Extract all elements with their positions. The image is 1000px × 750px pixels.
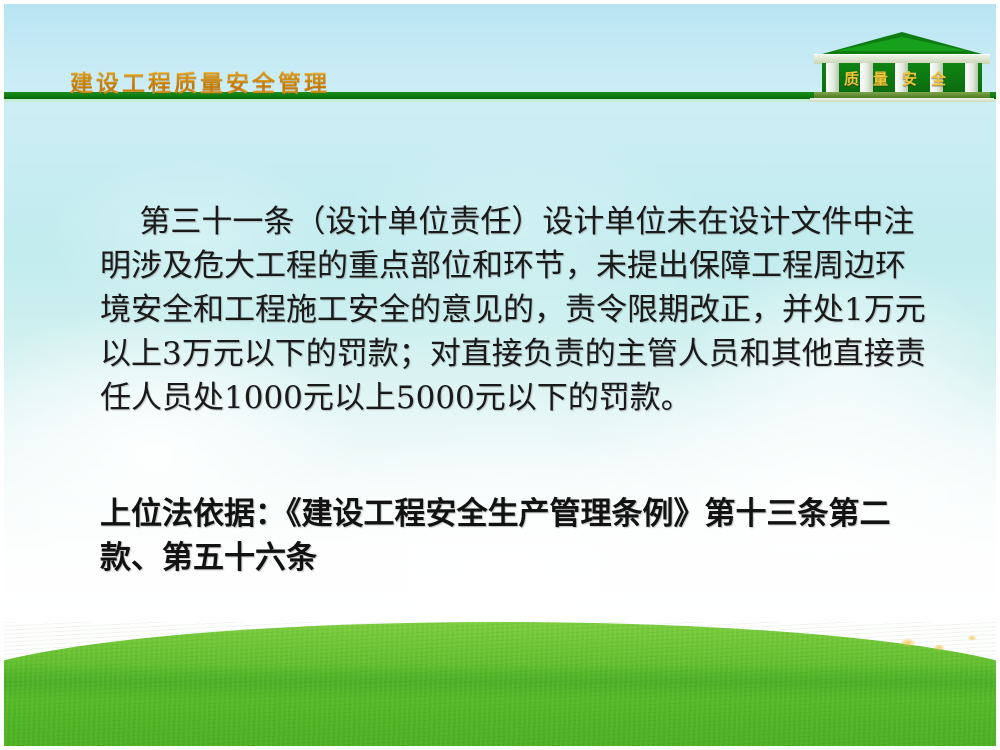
grass-flower-speck xyxy=(967,635,977,641)
article-paragraph: 第三十一条（设计单位责任）设计单位未在设计文件中注明涉及危大工程的重点部位和环节… xyxy=(100,200,930,420)
legal-basis-note: 上位法依据：《建设工程安全生产管理条例》第十三条第二款、第五十六条 xyxy=(100,492,930,580)
page-title: 建设工程质量安全管理 xyxy=(70,64,330,98)
grass-hill xyxy=(4,622,996,746)
slide-canvas: 建设工程质量安全管理 质量安全 第三十一条（设计单位责任）设计单位未在设计文件中… xyxy=(4,4,996,746)
grass-texture xyxy=(4,622,996,746)
logo-roof-highlight xyxy=(836,37,968,51)
quality-safety-building-icon: 质量安全 xyxy=(810,32,994,100)
presentation-slide: 建设工程质量安全管理 质量安全 第三十一条（设计单位责任）设计单位未在设计文件中… xyxy=(0,0,1000,750)
grass-flower-speck xyxy=(900,638,916,647)
logo-text: 质量安全 xyxy=(824,68,980,89)
grass-field-decoration xyxy=(4,616,996,746)
logo-stylobate-lower xyxy=(810,98,994,102)
